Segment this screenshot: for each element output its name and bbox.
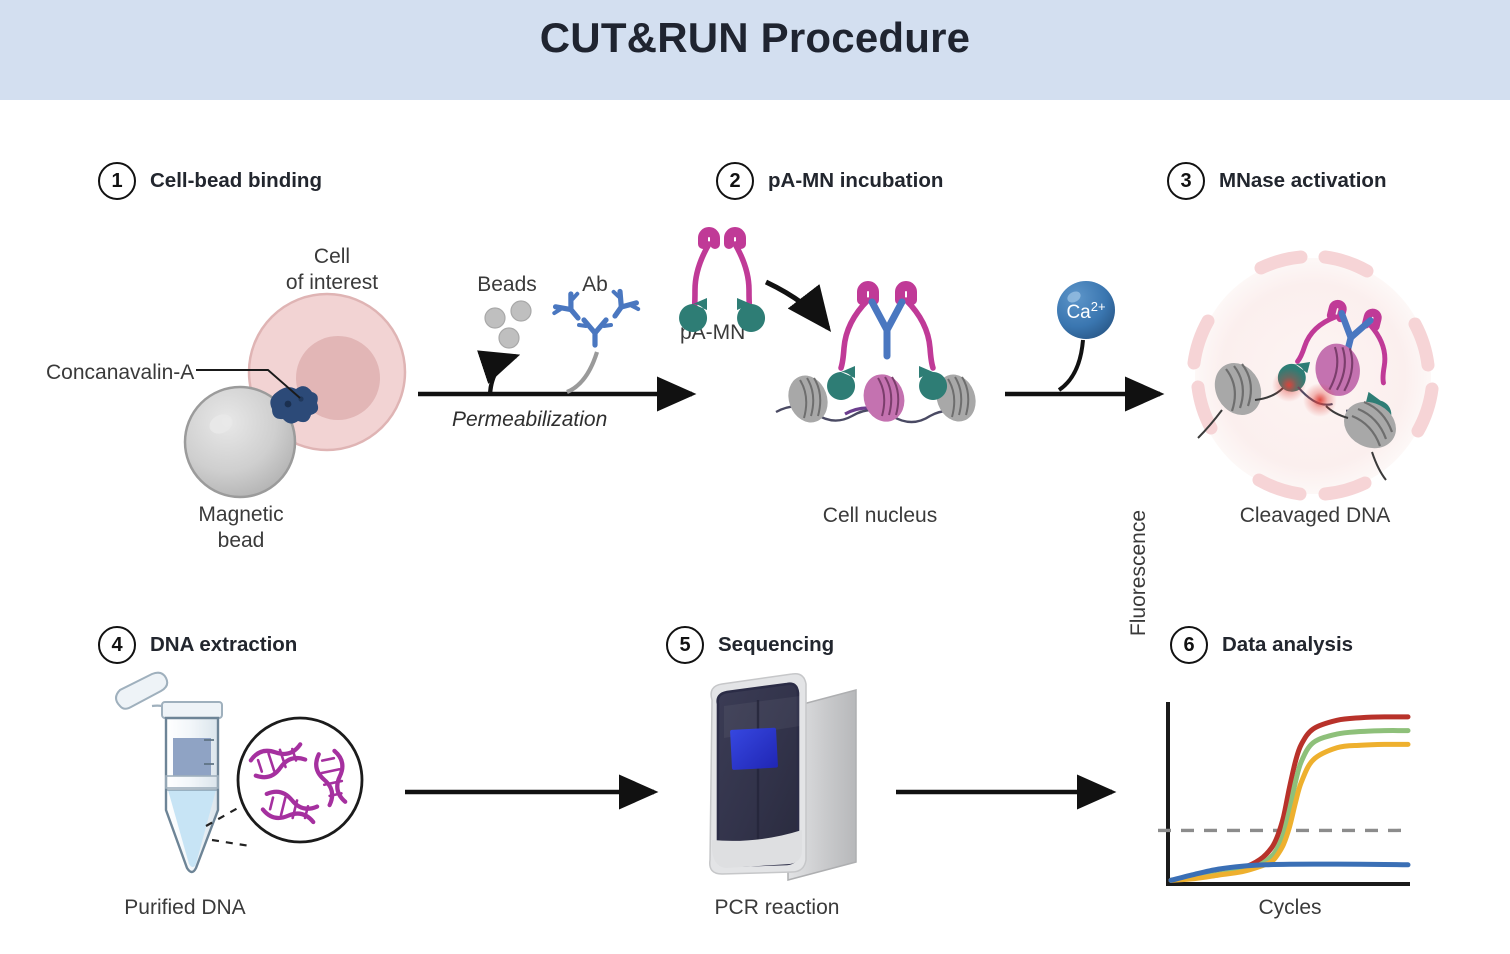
step-badge-6: 6 — [1170, 626, 1208, 664]
label-cell-line1: Cell — [314, 245, 350, 268]
step-badge-4: 4 — [98, 626, 136, 664]
chart-curve-sample-3 — [1171, 744, 1408, 880]
dna-helix-group — [249, 740, 350, 827]
cleaved-nucleosome-1 — [1198, 355, 1306, 438]
concanavalin-leader-line — [196, 370, 300, 398]
chart-curves — [1171, 717, 1408, 880]
graphics-layer: Ca2+ — [0, 0, 1510, 954]
diagram-canvas: CUT&RUN Procedure 1 Cell-bead binding 2 … — [0, 0, 1510, 954]
label-magnetic-bead: Magnetic bead — [166, 502, 316, 553]
step-header-2: 2 pA-MN incubation — [716, 162, 943, 200]
label-bead-line2: bead — [218, 529, 265, 552]
chart-y-axis-label: Fluorescence — [1126, 510, 1152, 700]
step-title-2: pA-MN incubation — [768, 169, 943, 193]
dna-magnifier — [206, 718, 362, 846]
label-concanavalin-a: Concanavalin-A — [46, 360, 194, 386]
cut-site-glow-1 — [1272, 368, 1306, 402]
nuclear-membrane-dashes — [1194, 257, 1432, 494]
step-badge-3: 3 — [1167, 162, 1205, 200]
label-pa-mn: pA-MN — [680, 320, 745, 346]
label-cell-of-interest: Cell of interest — [262, 244, 402, 295]
step-title-3: MNase activation — [1219, 169, 1386, 193]
chart-curve-sample-2 — [1171, 731, 1408, 881]
arrow-pamn-binding — [766, 282, 828, 328]
page-title: CUT&RUN Procedure — [0, 14, 1510, 62]
beads-group — [485, 301, 531, 348]
label-purified-dna: Purified DNA — [110, 895, 260, 921]
nucleosome-target — [858, 369, 911, 427]
step-header-4: 4 DNA extraction — [98, 626, 297, 664]
label-permeabilization: Permeabilization — [452, 407, 607, 433]
bound-complex-in-nucleus — [1271, 294, 1414, 431]
arrow-beads-in — [490, 356, 516, 394]
machine-screen — [730, 728, 778, 770]
step-badge-5: 5 — [666, 626, 704, 664]
label-beads: Beads — [451, 272, 563, 298]
cleaved-nucleosome-2 — [1303, 383, 1404, 480]
nucleosome-right — [930, 369, 982, 427]
step-header-5: 5 Sequencing — [666, 626, 834, 664]
step-title-6: Data analysis — [1222, 633, 1353, 657]
calcium-label: Ca2+ — [1066, 299, 1105, 323]
eppendorf-tube — [116, 673, 222, 872]
label-pcr-reaction: PCR reaction — [703, 895, 851, 921]
nucleosome-left — [782, 370, 834, 428]
step-badge-1: 1 — [98, 162, 136, 200]
arrow-ab-in — [567, 352, 597, 392]
chart-x-axis-label: Cycles — [1231, 895, 1349, 921]
concanavalin-a-blob — [270, 386, 318, 423]
label-bead-line1: Magnetic — [198, 503, 283, 526]
pcr-machine — [710, 674, 856, 880]
chromatin-fiber — [776, 406, 964, 422]
label-cell-line2: of interest — [286, 271, 378, 294]
label-ab: Ab — [560, 272, 630, 298]
pa-mn-free — [679, 232, 765, 332]
arrow-calcium-in — [1059, 340, 1083, 390]
chart-curve-negative-control — [1171, 864, 1408, 880]
label-cleavaged-dna: Cleavaged DNA — [1222, 503, 1408, 529]
step-badge-2: 2 — [716, 162, 754, 200]
qpcr-chart — [1158, 702, 1410, 886]
cut-site-glow-2 — [1303, 383, 1337, 417]
magnetic-bead — [185, 387, 295, 497]
step-header-1: 1 Cell-bead binding — [98, 162, 322, 200]
chart-curve-sample-1 — [1171, 717, 1408, 880]
label-cell-nucleus: Cell nucleus — [806, 503, 954, 529]
cleaved-nucleus — [1194, 257, 1432, 494]
step-title-5: Sequencing — [718, 633, 834, 657]
step-title-1: Cell-bead binding — [150, 169, 322, 193]
step-header-6: 6 Data analysis — [1170, 626, 1353, 664]
step-header-3: 3 MNase activation — [1167, 162, 1386, 200]
calcium-ion: Ca2+ — [1057, 281, 1115, 339]
step-title-4: DNA extraction — [150, 633, 297, 657]
magnifier-leader-lines — [206, 800, 252, 846]
cell-of-interest — [249, 294, 405, 450]
pa-mn-bound — [827, 286, 947, 400]
